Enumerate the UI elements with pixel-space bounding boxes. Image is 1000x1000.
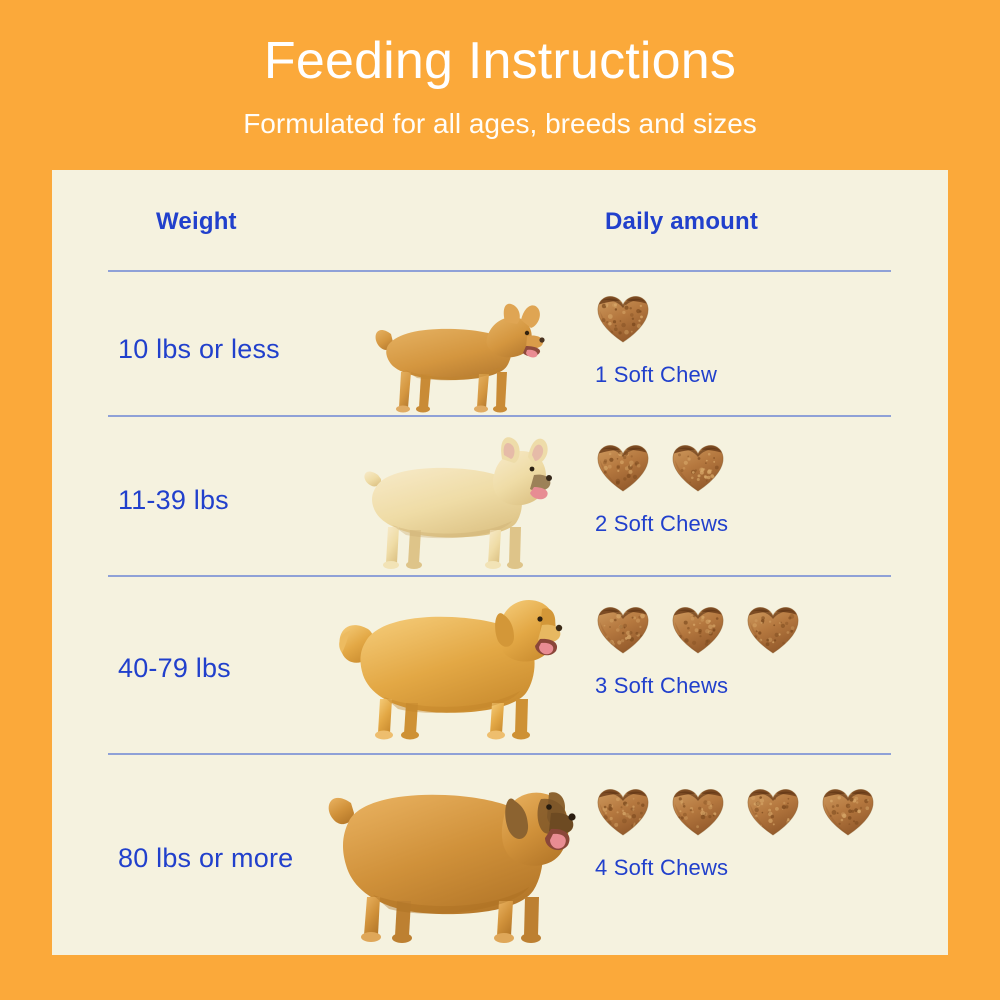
dog-image-mastiff: [298, 757, 588, 943]
soft-chew-icon: [595, 441, 651, 493]
soft-chew-icon: [745, 603, 801, 655]
dog-image-golden-retriever: [310, 579, 580, 741]
table-row: 10 lbs or less: [52, 272, 948, 422]
daily-amount-cell: 4 Soft Chews: [595, 779, 945, 881]
soft-chew-icon: [670, 441, 726, 493]
soft-chew-icon: [820, 785, 876, 837]
daily-amount-cell: 2 Soft Chews: [595, 435, 945, 537]
table-row: 80 lbs or more: [52, 755, 948, 955]
page-title: Feeding Instructions: [0, 30, 1000, 92]
feeding-chart-card: Weight Daily amount 10 lbs or less: [52, 170, 948, 955]
soft-chew-icon: [745, 785, 801, 837]
soft-chew-icon: [595, 603, 651, 655]
table-row: 40-79 lbs: [52, 577, 948, 747]
page-subtitle: Formulated for all ages, breeds and size…: [0, 104, 1000, 144]
page-header: Feeding Instructions Formulated for all …: [0, 0, 1000, 144]
soft-chew-icon: [595, 292, 651, 344]
column-header-daily-amount: Daily amount: [605, 208, 758, 236]
table-row: 11-39 lbs: [52, 417, 948, 577]
daily-amount-cell: 3 Soft Chews: [595, 597, 945, 699]
table-header-row: Weight Daily amount: [52, 170, 948, 260]
column-header-weight: Weight: [156, 208, 237, 236]
daily-amount-cell: 1 Soft Chew: [595, 286, 945, 388]
soft-chew-icon: [670, 785, 726, 837]
soft-chew-icon: [670, 603, 726, 655]
amount-label: 3 Soft Chews: [595, 673, 945, 699]
amount-label: 1 Soft Chew: [595, 362, 945, 388]
dog-image-french-bulldog: [324, 423, 574, 571]
amount-label: 2 Soft Chews: [595, 511, 945, 537]
chew-strip: [595, 435, 945, 493]
chew-strip: [595, 779, 945, 837]
chew-strip: [595, 286, 945, 344]
dog-image-chihuahua: [330, 280, 570, 414]
chew-strip: [595, 597, 945, 655]
amount-label: 4 Soft Chews: [595, 855, 945, 881]
soft-chew-icon: [595, 785, 651, 837]
